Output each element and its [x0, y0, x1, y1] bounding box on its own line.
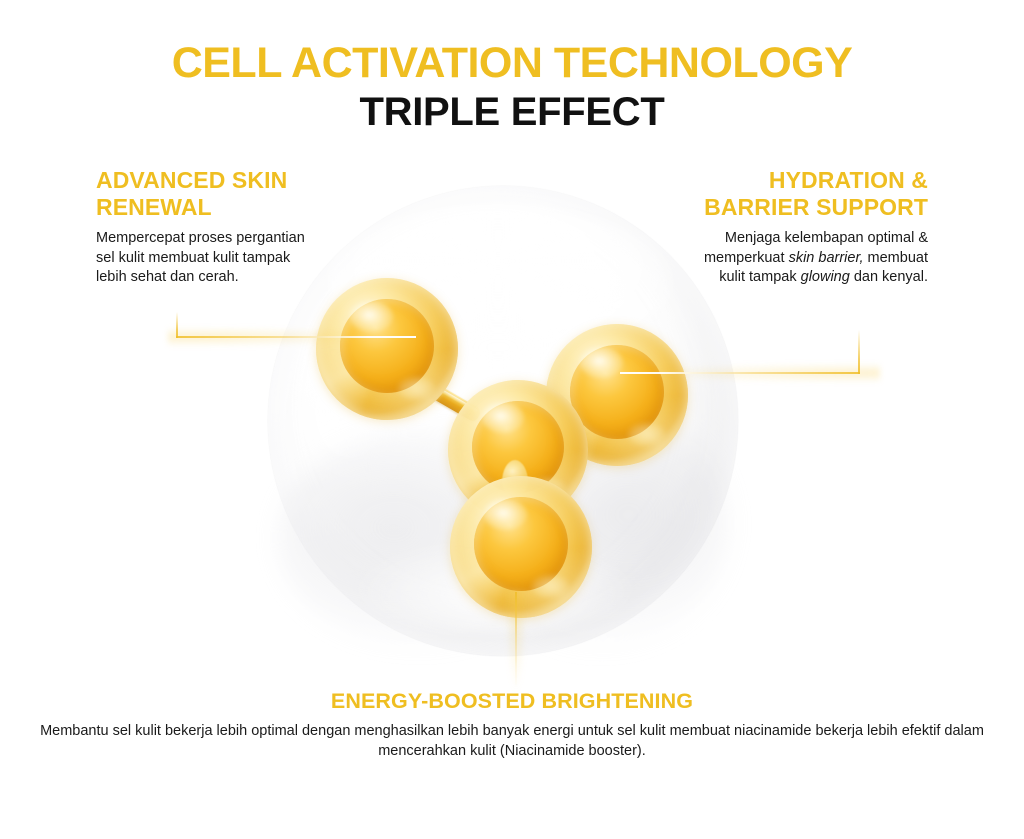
- callout-connector-right-vertical: [858, 330, 860, 374]
- sphere-specular-highlight: [484, 499, 527, 530]
- callout-right-body-run3: dan kenyal.: [850, 269, 928, 285]
- callout-left-body: Mempercepat proses pergantian sel kulit …: [96, 229, 311, 288]
- callout-bottom-heading: ENERGY-BOOSTED BRIGHTENING: [0, 688, 1024, 714]
- title-line-primary: CELL ACTIVATION TECHNOLOGY: [0, 38, 1024, 88]
- golden-molecule-sphere-bottom: [450, 476, 592, 618]
- callout-right-heading: HYDRATION & BARRIER SUPPORT: [698, 167, 928, 221]
- callout-right-body-emphasis-glowing: glowing: [801, 269, 850, 285]
- callout-right-body-emphasis-skin-barrier: skin barrier,: [789, 250, 864, 266]
- sphere-specular-highlight: [350, 301, 393, 332]
- sphere-specular-highlight: [482, 402, 524, 433]
- infographic-canvas: CELL ACTIVATION TECHNOLOGY TRIPLE EFFECT: [0, 0, 1024, 839]
- golden-molecule-sphere-top-left: [316, 278, 458, 420]
- callout-bottom-body: Membantu sel kulit bekerja lebih optimal…: [0, 721, 1024, 761]
- sphere-specular-highlight: [580, 347, 623, 378]
- title-line-secondary: TRIPLE EFFECT: [0, 88, 1024, 136]
- molecule-graphic: [268, 186, 738, 656]
- callout-right-body: Menjaga kelembapan optimal & memperkuat …: [698, 229, 928, 288]
- callout-advanced-skin-renewal: ADVANCED SKIN RENEWAL Mempercepat proses…: [96, 167, 311, 288]
- callout-energy-boosted-brightening: ENERGY-BOOSTED BRIGHTENING Membantu sel …: [0, 688, 1024, 761]
- page-title: CELL ACTIVATION TECHNOLOGY TRIPLE EFFECT: [0, 38, 1024, 136]
- callout-left-heading: ADVANCED SKIN RENEWAL: [96, 167, 311, 221]
- callout-connector-left-vertical: [176, 312, 178, 338]
- callout-hydration-barrier-support: HYDRATION & BARRIER SUPPORT Menjaga kele…: [698, 167, 928, 288]
